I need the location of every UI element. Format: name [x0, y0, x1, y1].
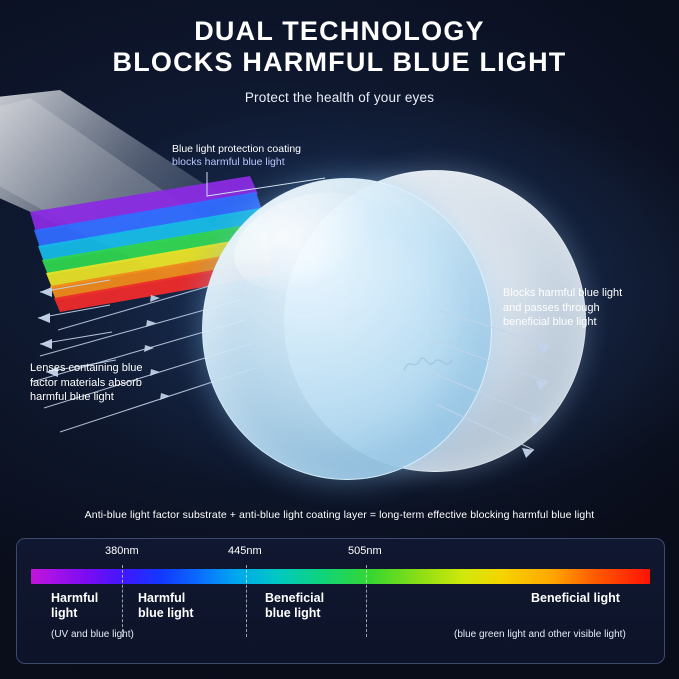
callout-left-line-1: Lenses containing blue [30, 361, 143, 376]
subtitle: Protect the health of your eyes [0, 90, 679, 105]
band-label-harmful-blue-light-line2: blue light [138, 606, 194, 621]
title-line-1: DUAL TECHNOLOGY [0, 16, 679, 47]
callout-coating: Blue light protection coating blocks har… [172, 143, 301, 169]
spectrum-band-labels: Harmful light Harmful blue light Benefic… [17, 591, 664, 635]
band-label-harmful-light-line1: Harmful [51, 591, 98, 606]
band-label-harmful-blue-light-line1: Harmful [138, 591, 194, 606]
title-line-2: BLOCKS HARMFUL BLUE LIGHT [0, 47, 679, 78]
callout-left-line-3: harmful blue light [30, 390, 143, 405]
band-label-harmful-light-line2: light [51, 606, 98, 621]
band-note-uv: (UV and blue light) [51, 629, 134, 640]
front-lens-coating [202, 178, 492, 480]
spectrum-gradient-bar [31, 569, 650, 584]
band-label-beneficial-blue-light-line1: Beneficial [265, 591, 324, 606]
spectrum-tick-445: 445nm [228, 545, 262, 557]
callout-left-line-2: factor materials absorb [30, 376, 143, 391]
spectrum-tick-row: 380nm 445nm 505nm [17, 545, 664, 563]
band-label-beneficial-blue-light: Beneficial blue light [265, 591, 324, 621]
band-note-visible: (blue green light and other visible ligh… [454, 629, 626, 640]
spectrum-tick-505: 505nm [348, 545, 382, 557]
callout-right-line-2: and passes through [503, 301, 622, 316]
callout-right: Blocks harmful blue light and passes thr… [503, 286, 622, 330]
spectrum-tick-380: 380nm [105, 545, 139, 557]
callout-right-line-1: Blocks harmful blue light [503, 286, 622, 301]
poster-root: DUAL TECHNOLOGY BLOCKS HARMFUL BLUE LIGH… [0, 0, 679, 679]
spectrum-panel: 380nm 445nm 505nm Harmful light Harmful … [16, 538, 665, 664]
band-label-beneficial-light-line1: Beneficial light [531, 591, 620, 606]
callout-right-line-3: beneficial blue light [503, 315, 622, 330]
callout-coating-line-1: Blue light protection coating [172, 143, 301, 156]
callout-left: Lenses containing blue factor materials … [30, 361, 143, 405]
band-label-harmful-blue-light: Harmful blue light [138, 591, 194, 621]
callout-coating-line-2: blocks harmful blue light [172, 156, 301, 169]
summary-caption: Anti-blue light factor substrate + anti-… [0, 509, 679, 521]
band-label-beneficial-blue-light-line2: blue light [265, 606, 324, 621]
band-label-beneficial-light: Beneficial light [531, 591, 620, 606]
header: DUAL TECHNOLOGY BLOCKS HARMFUL BLUE LIGH… [0, 16, 679, 105]
band-label-harmful-light: Harmful light [51, 591, 98, 621]
